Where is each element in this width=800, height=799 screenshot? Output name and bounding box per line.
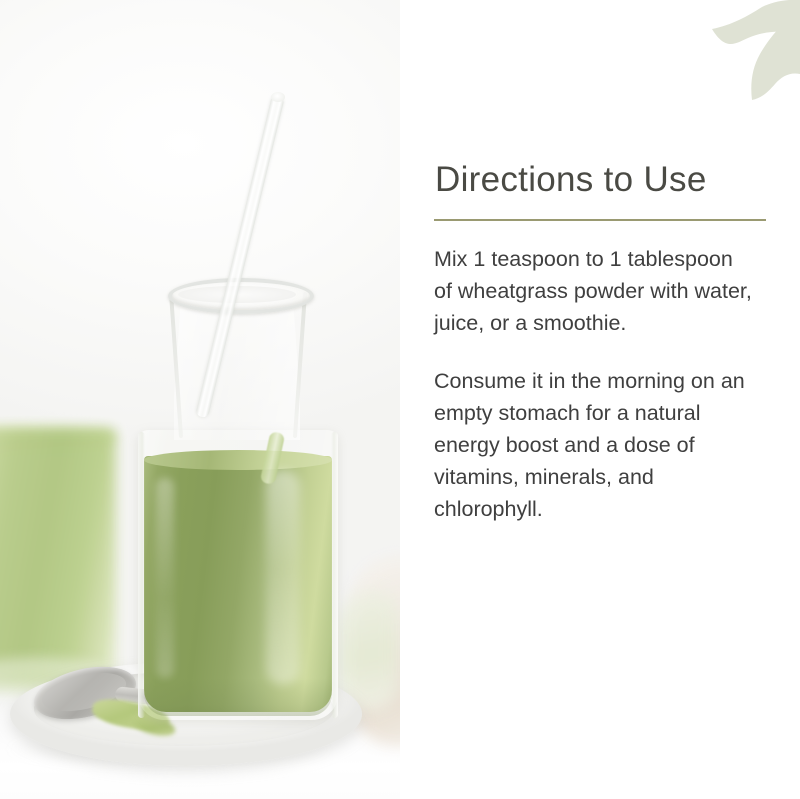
direction-paragraph-2: Consume it in the morning on an empty st… — [434, 365, 752, 525]
product-photo — [0, 0, 400, 799]
leaf-decoration-icon — [690, 0, 800, 100]
directions-body: Mix 1 teaspoon to 1 tablespoon of wheatg… — [434, 243, 752, 525]
text-panel: Directions to Use Mix 1 teaspoon to 1 ta… — [400, 0, 800, 799]
page-title: Directions to Use — [435, 160, 775, 200]
green-smoothie-surface — [144, 450, 332, 470]
milk-bottle — [138, 280, 338, 720]
smoothie-base-shadow — [144, 678, 332, 716]
smoothie-highlight-secondary — [156, 478, 174, 678]
glass-straw-tip — [271, 92, 285, 102]
smoothie-highlight — [266, 470, 300, 685]
bottle-glass-edge-right — [331, 432, 338, 718]
title-divider — [434, 219, 766, 221]
direction-paragraph-1: Mix 1 teaspoon to 1 tablespoon of wheatg… — [434, 243, 752, 339]
background-glass — [0, 428, 116, 686]
bottle-glass-edge-left — [138, 432, 145, 718]
product-info-card: Directions to Use Mix 1 teaspoon to 1 ta… — [0, 0, 800, 799]
